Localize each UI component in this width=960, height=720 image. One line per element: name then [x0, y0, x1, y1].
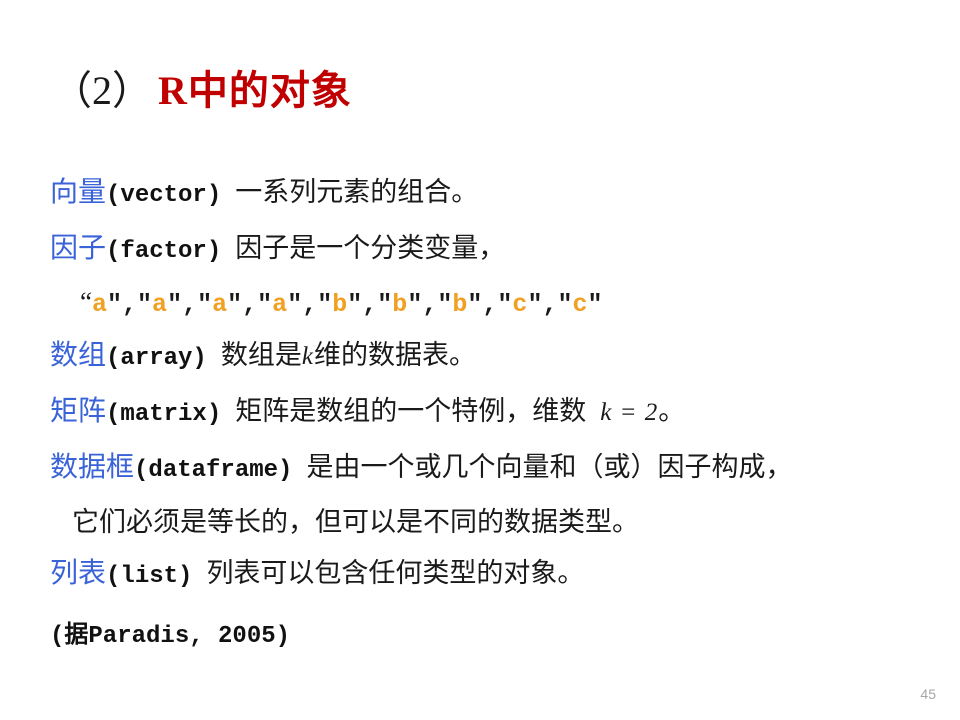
example-quote-open: " — [137, 290, 152, 319]
example-separator: , — [302, 290, 317, 319]
term-array-cn: 数组 — [50, 340, 106, 371]
example-value-sequence: a","a","a","a","b","b","b","c","c" — [92, 287, 603, 317]
source-citation: (据Paradis, 2005) — [50, 609, 940, 661]
term-matrix-code: (matrix) — [106, 401, 221, 428]
example-quote-close: " — [407, 290, 422, 319]
example-separator: , — [122, 290, 137, 319]
term-list-code: (list) — [106, 563, 192, 590]
example-value: b — [452, 290, 467, 319]
page-number: 45 — [920, 686, 936, 702]
term-factor-cn: 因子 — [50, 233, 106, 264]
term-array-desc-before: 数组是 — [221, 340, 302, 370]
example-quote-close: " — [227, 290, 242, 319]
example-separator: , — [242, 290, 257, 319]
term-dataframe-cn: 数据框 — [50, 452, 134, 483]
example-value: c — [572, 290, 587, 319]
example-separator: , — [362, 290, 377, 319]
list-item-matrix: 矩阵(matrix)矩阵是数组的一个特例，维数k = 2。 — [50, 385, 940, 441]
term-list-cn: 列表 — [50, 558, 106, 589]
term-matrix-variable: k = 2 — [600, 399, 658, 426]
example-quote-open: " — [197, 290, 212, 319]
list-item-list: 列表(list)列表可以包含任何类型的对象。 — [50, 547, 940, 603]
example-separator: , — [542, 290, 557, 319]
term-list-desc: 列表可以包含任何类型的对象。 — [206, 558, 584, 588]
example-value: a — [272, 290, 287, 319]
example-open-quote: “ — [80, 287, 92, 317]
title-text: R中的对象 — [158, 58, 352, 116]
slide-canvas: （2） R中的对象 向量(vector)一系列元素的组合。 因子(factor)… — [0, 0, 960, 720]
term-factor-desc: 因子是一个分类变量， — [235, 233, 505, 263]
example-value: b — [332, 290, 347, 319]
example-value: a — [92, 290, 107, 319]
example-quote-close: " — [588, 290, 603, 319]
term-matrix-cn: 矩阵 — [50, 396, 106, 427]
example-quote-open: " — [377, 290, 392, 319]
term-array-variable: k — [302, 343, 314, 370]
term-array-code: (array) — [106, 345, 207, 372]
example-quote-open: " — [437, 290, 452, 319]
example-quote-open: " — [317, 290, 332, 319]
example-separator: , — [422, 290, 437, 319]
list-item-factor: 因子(factor)因子是一个分类变量， — [50, 222, 940, 278]
example-value: b — [392, 290, 407, 319]
object-definition-list: 向量(vector)一系列元素的组合。 因子(factor)因子是一个分类变量，… — [50, 166, 940, 661]
list-item-dataframe: 数据框(dataframe)是由一个或几个向量和（或）因子构成， — [50, 441, 940, 497]
example-value: a — [212, 290, 227, 319]
example-value: a — [152, 290, 167, 319]
term-matrix-desc-before: 矩阵是数组的一个特例，维数 — [235, 396, 586, 426]
term-matrix-desc-after: 。 — [658, 396, 685, 426]
title-number: （2） — [52, 58, 152, 116]
example-value: c — [512, 290, 527, 319]
term-vector-cn: 向量 — [50, 177, 106, 208]
term-dataframe-desc: 是由一个或几个向量和（或）因子构成， — [306, 452, 792, 482]
list-item-array: 数组(array)数组是k维的数据表。 — [50, 329, 940, 385]
term-factor-code: (factor) — [106, 238, 221, 265]
term-vector-code: (vector) — [106, 182, 221, 209]
term-array-desc-after: 维的数据表。 — [314, 340, 476, 370]
example-quote-close: " — [527, 290, 542, 319]
example-separator: , — [482, 290, 497, 319]
example-quote-close: " — [287, 290, 302, 319]
example-quote-close: " — [167, 290, 182, 319]
term-dataframe-desc-continued-line: 它们必须是等长的，但可以是不同的数据类型。 — [50, 497, 940, 547]
example-quote-open: " — [257, 290, 272, 319]
example-quote-open: " — [557, 290, 572, 319]
source-prefix: (据 — [50, 623, 88, 650]
list-item-vector: 向量(vector)一系列元素的组合。 — [50, 166, 940, 222]
example-quote-close: " — [467, 290, 482, 319]
example-separator: , — [182, 290, 197, 319]
factor-example-values: “a","a","a","a","b","b","b","c","c" — [50, 278, 940, 329]
page-title: （2） R中的对象 — [52, 58, 352, 116]
source-reference: Paradis, 2005) — [88, 623, 290, 650]
example-quote-open: " — [497, 290, 512, 319]
term-dataframe-code: (dataframe) — [134, 457, 292, 484]
example-quote-close: " — [107, 290, 122, 319]
example-quote-close: " — [347, 290, 362, 319]
term-vector-desc: 一系列元素的组合。 — [235, 177, 478, 207]
